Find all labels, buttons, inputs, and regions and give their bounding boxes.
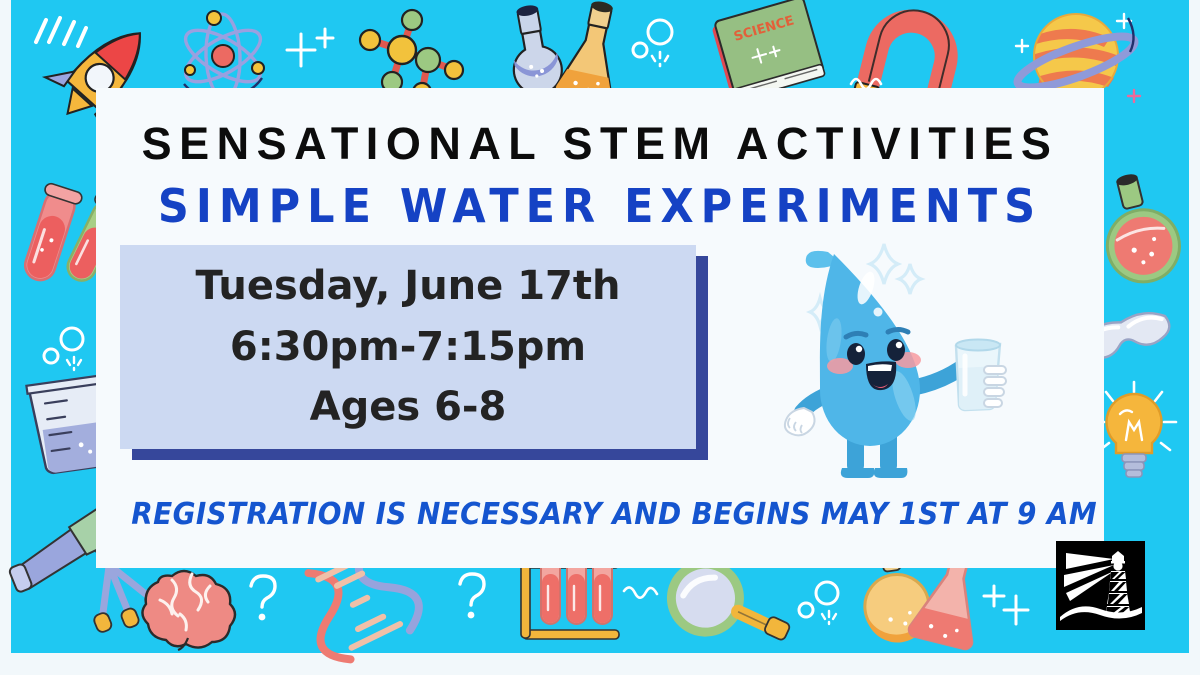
event-ages: Ages 6-8 xyxy=(310,379,507,436)
question-mark-icon xyxy=(452,570,490,622)
page-title: SENSATIONAL STEM ACTIVITIES xyxy=(96,118,1104,170)
bubble-icon xyxy=(795,580,851,628)
registration-notice: REGISTRATION IS NECESSARY AND BEGINS MAY… xyxy=(131,497,1068,532)
sparkle-icon xyxy=(285,26,335,74)
lighthouse-logo-icon xyxy=(1056,541,1145,630)
bubble-icon xyxy=(40,326,96,372)
event-details-box: Tuesday, June 17th 6:30pm-7:15pm Ages 6-… xyxy=(120,245,696,449)
bubble-icon xyxy=(630,18,684,70)
water-droplet-mascot xyxy=(762,236,1012,486)
poster-canvas: SCIENCE xyxy=(0,0,1200,675)
water-glass-icon xyxy=(956,340,1006,411)
question-mark-icon xyxy=(243,572,281,624)
glove-icon xyxy=(785,408,815,435)
event-time: 6:30pm-7:15pm xyxy=(230,319,586,376)
page-subtitle: SIMPLE WATER EXPERIMENTS xyxy=(96,180,1104,234)
sparkle-icon xyxy=(980,580,1034,630)
event-date: Tuesday, June 17th xyxy=(196,258,621,315)
